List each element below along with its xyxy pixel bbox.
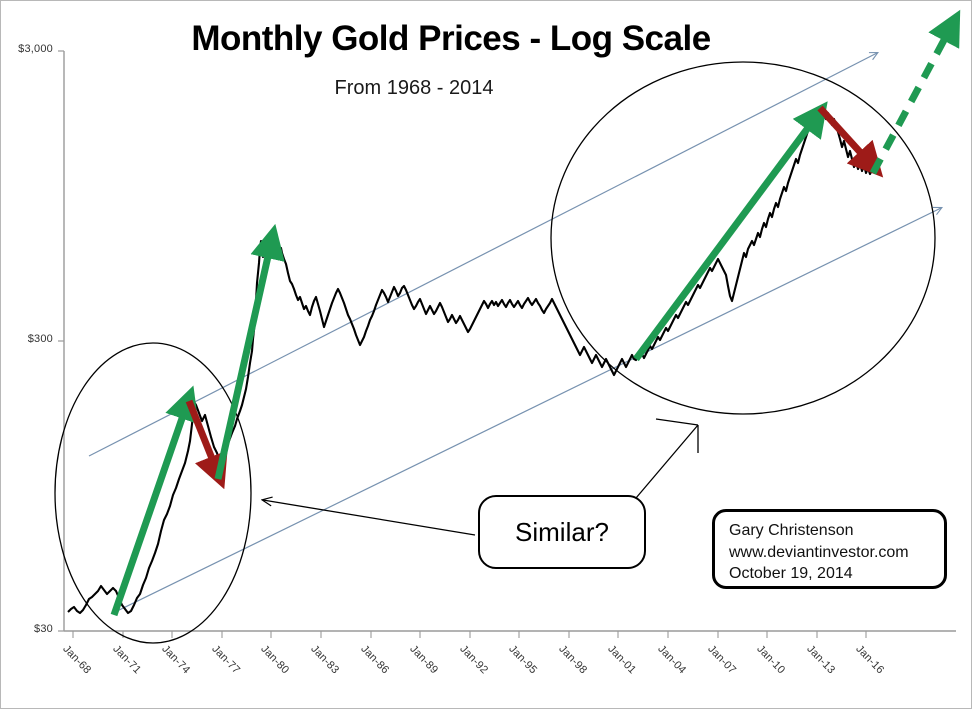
leader-to-right-ellipse-diagonal [636,425,698,498]
y-tick-label-30: $30 [1,623,53,635]
green-arrow-2001-2011 [636,117,816,359]
plot-area [1,1,972,709]
credit-box: Gary Christenson www.deviantinvestor.com… [712,509,947,589]
similar-callout-box: Similar? [478,495,646,569]
x-axis-ticks [73,631,866,638]
credit-author: Gary Christenson [729,520,944,542]
similar-callout-label: Similar? [515,517,609,548]
gold-price-chart: Monthly Gold Prices - Log Scale From 196… [0,0,972,709]
y-tick-label-3000: $3,000 [1,43,53,55]
y-tick-label-300: $300 [1,333,53,345]
ellipse-right-pattern [551,62,935,414]
green-dashed-arrow-projection [873,27,951,173]
green-arrow-1971-1974 [114,404,187,615]
credit-website: www.deviantinvestor.com [729,542,944,564]
leader-to-left-ellipse [263,500,475,535]
credit-date: October 19, 2014 [729,563,944,585]
upper-trendline [89,53,877,456]
green-arrow-1976-1980 [218,243,271,479]
leader-to-right-ellipse [656,419,698,425]
red-arrow-2011-2014 [820,108,870,163]
red-arrow-1974-1976 [189,401,217,471]
